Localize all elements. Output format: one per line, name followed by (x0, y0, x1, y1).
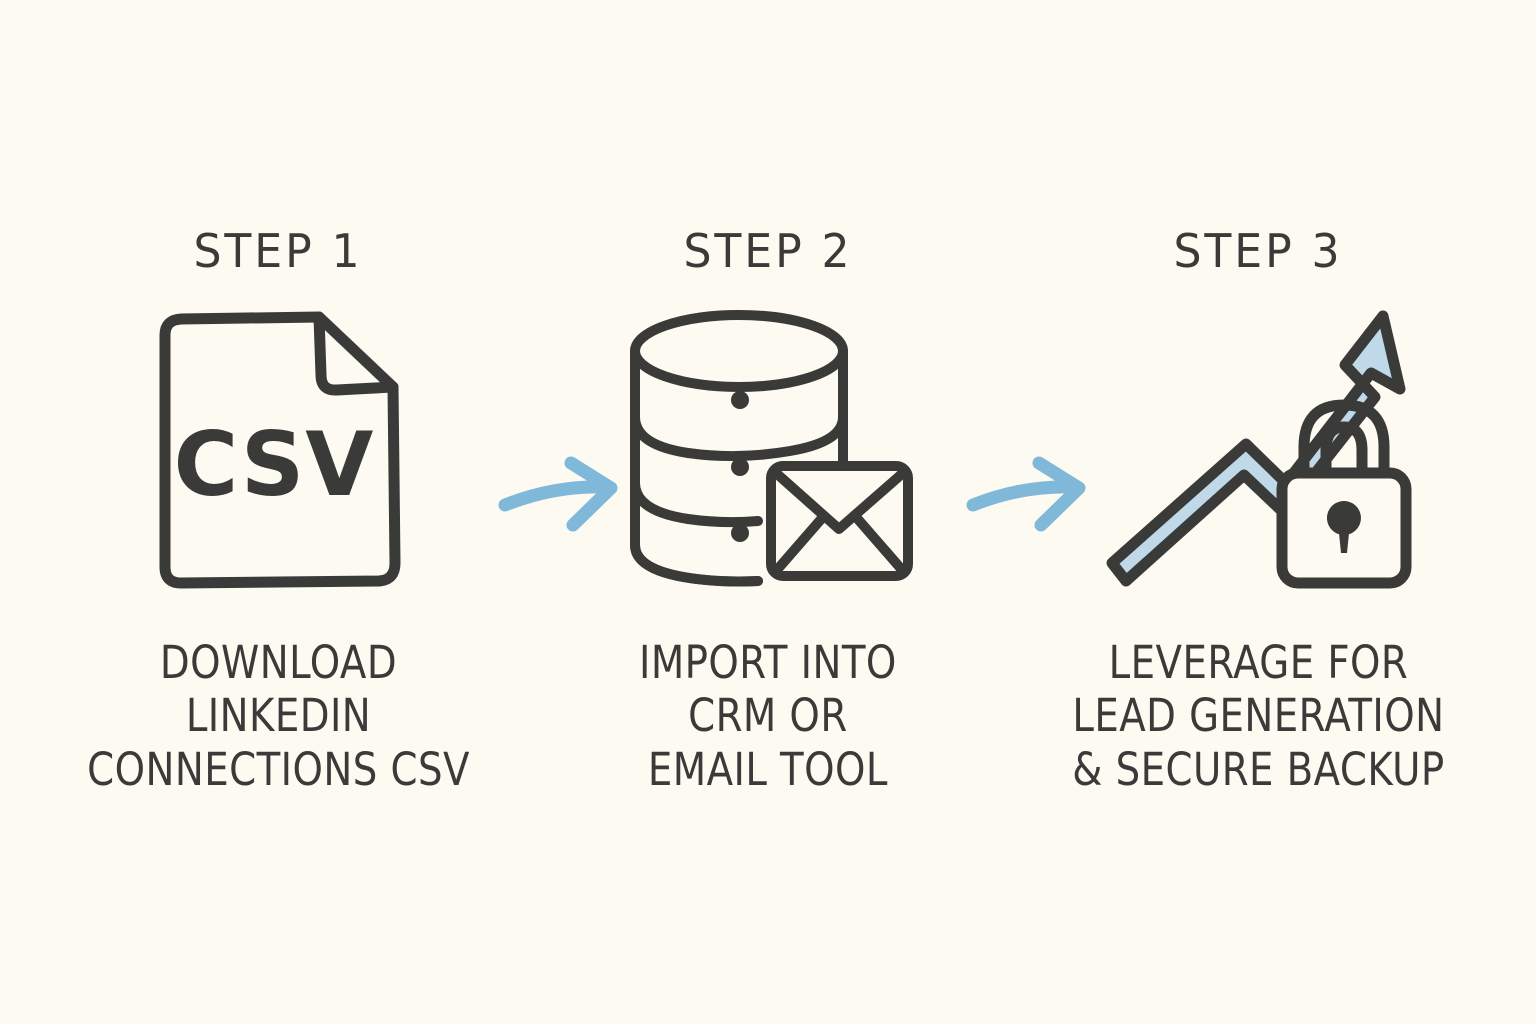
step-3-caption-line-1: LEVERAGE FOR (1072, 636, 1444, 689)
step-1-caption-line-3: CONNECTIONS CSV (87, 743, 470, 796)
step-1-caption: DOWNLOAD LINKEDIN CONNECTIONS CSV (87, 636, 470, 795)
database-envelope-icon (618, 305, 918, 595)
envelope-icon (771, 466, 908, 576)
csv-file-label: CSV (174, 413, 375, 516)
step-card-2: STEP 2 (548, 228, 988, 795)
steps-row: STEP 1 CSV DOWNLOAD LINKEDIN CONNECTIONS… (58, 228, 1478, 795)
step-2-caption: IMPORT INTO CRM OR EMAIL TOOL (639, 636, 897, 795)
step-1-caption-line-1: DOWNLOAD (87, 636, 470, 689)
step-1-icon-wrap: CSV (143, 300, 413, 600)
infographic-canvas: STEP 1 CSV DOWNLOAD LINKEDIN CONNECTIONS… (0, 0, 1536, 1024)
step-2-heading: STEP 2 (684, 228, 853, 274)
step-3-heading: STEP 3 (1174, 228, 1343, 274)
step-3-caption-line-3: & SECURE BACKUP (1072, 743, 1444, 796)
step-3-icon-wrap (1098, 300, 1418, 600)
step-card-3: STEP 3 LEVERAGE FOR LEAD GENERATION & SE… (1038, 228, 1478, 795)
step-3-caption: LEVERAGE FOR LEAD GENERATION & SECURE BA… (1072, 636, 1444, 795)
step-card-1: STEP 1 CSV DOWNLOAD LINKEDIN CONNECTIONS… (58, 228, 498, 795)
padlock-icon (1282, 405, 1406, 583)
step-1-heading: STEP 1 (194, 228, 363, 274)
step-3-caption-line-2: LEAD GENERATION (1072, 689, 1444, 742)
step-2-caption-line-1: IMPORT INTO (639, 636, 897, 689)
step-2-icon-wrap (618, 300, 918, 600)
step-2-caption-line-2: CRM OR (639, 689, 897, 742)
csv-file-icon: CSV (143, 305, 413, 595)
step-2-caption-line-3: EMAIL TOOL (639, 743, 897, 796)
growth-arrow-lock-icon (1098, 305, 1418, 595)
step-1-caption-line-2: LINKEDIN (87, 689, 470, 742)
